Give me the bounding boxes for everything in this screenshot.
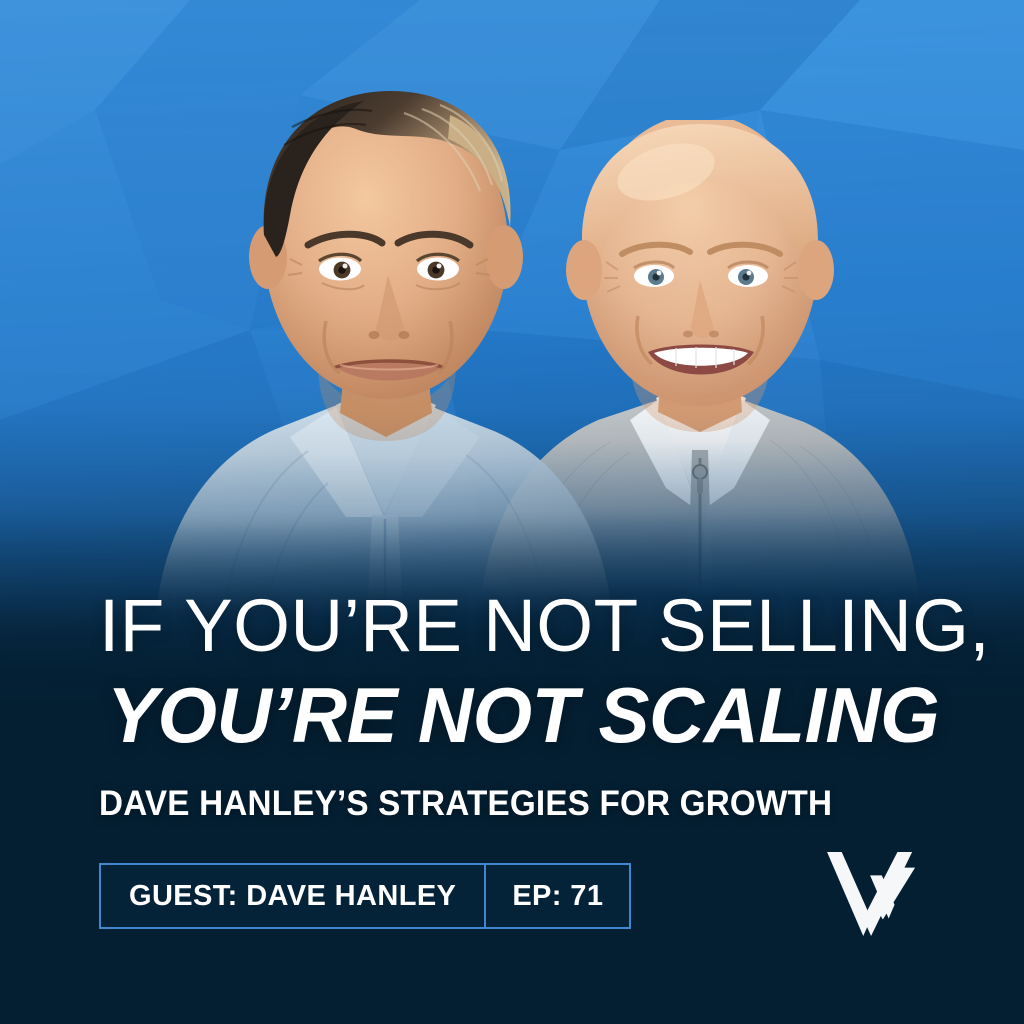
badge-row: GUEST: DAVE HANLEY EP: 71 xyxy=(99,850,939,1024)
title-line-1: IF YOU’RE NOT SELLING, xyxy=(99,590,926,662)
title-line-2: YOU’RE NOT SCALING xyxy=(107,676,922,754)
badge-guest-label: GUEST: DAVE HANLEY xyxy=(101,865,484,927)
guest-photo-left xyxy=(150,85,620,645)
episode-badge: GUEST: DAVE HANLEY EP: 71 xyxy=(99,863,631,929)
subtitle: DAVE HANLEY’S STRATEGIES FOR GROWTH xyxy=(99,784,897,824)
content-block: IF YOU’RE NOT SELLING, YOU’RE NOT SCALIN… xyxy=(99,590,939,1024)
podcast-episode-poster: IF YOU’RE NOT SELLING, YOU’RE NOT SCALIN… xyxy=(0,0,1024,1024)
w-monogram-logo xyxy=(825,850,923,938)
badge-episode-number: EP: 71 xyxy=(484,865,629,927)
